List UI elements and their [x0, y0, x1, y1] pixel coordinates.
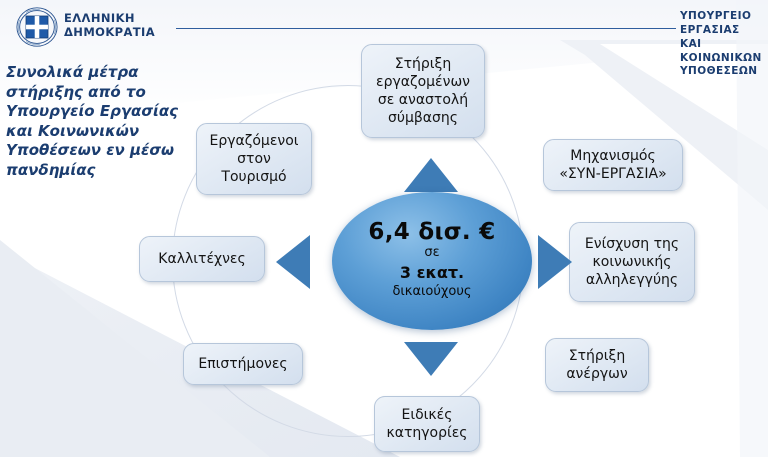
node-stirixi-anergon: Στήριξη ανέργων [545, 338, 649, 392]
node-stirixi-ergazomenon-anastoli: Στήριξη εργαζομένων σε αναστολή σύμβασης [361, 44, 485, 138]
total-amount-callout: 6,4 δισ. € σε 3 εκατ. δικαιούχους [332, 192, 532, 330]
node-mixanismos-synergasia: Μηχανισμός «ΣΥΝ-ΕΡΓΑΣΙΑ» [543, 139, 683, 191]
arrow-down-icon [404, 342, 458, 376]
slide-canvas: ΕΛΛΗΝΙΚΗ ΔΗΜΟΚΡΑΤΙΑ ΥΠΟΥΡΓΕΙΟ ΕΡΓΑΣΙΑΣ Κ… [0, 0, 768, 457]
greek-republic-coat-of-arms-icon [14, 6, 60, 48]
total-amount-value: 6,4 δισ. € [368, 220, 495, 244]
arrow-up-icon [404, 158, 458, 192]
node-enisxysi-koinonikis-allilegyis: Ενίσχυση της κοινωνικής αλληλεγγύης [569, 222, 695, 302]
node-eidikes-katigories: Ειδικές κατηγορίες [374, 396, 480, 452]
header-divider-rule [176, 28, 676, 29]
emblem-text: ΕΛΛΗΝΙΚΗ ΔΗΜΟΚΡΑΤΙΑ [64, 11, 155, 39]
beneficiaries-label: δικαιούχους [392, 283, 471, 302]
page-title: Συνολικά μέτρα στήριξης από το Υπουργείο… [6, 63, 194, 180]
beneficiaries-count: 3 εκατ. [400, 263, 464, 283]
arrow-right-icon [538, 235, 572, 289]
arrow-left-icon [276, 235, 310, 289]
node-epistimones: Επιστήμονες [183, 343, 303, 385]
node-ergazomenoi-ston-tourismo: Εργαζόμενοι στον Τουρισμό [196, 123, 312, 195]
total-amount-connector: σε [424, 244, 439, 263]
node-kallitexnes: Καλλιτέχνες [139, 236, 265, 282]
ministry-title: ΥΠΟΥΡΓΕΙΟ ΕΡΓΑΣΙΑΣ ΚΑΙ ΚΟΙΝΩΝΙΚΩΝ ΥΠΟΘΕΣ… [680, 10, 768, 79]
